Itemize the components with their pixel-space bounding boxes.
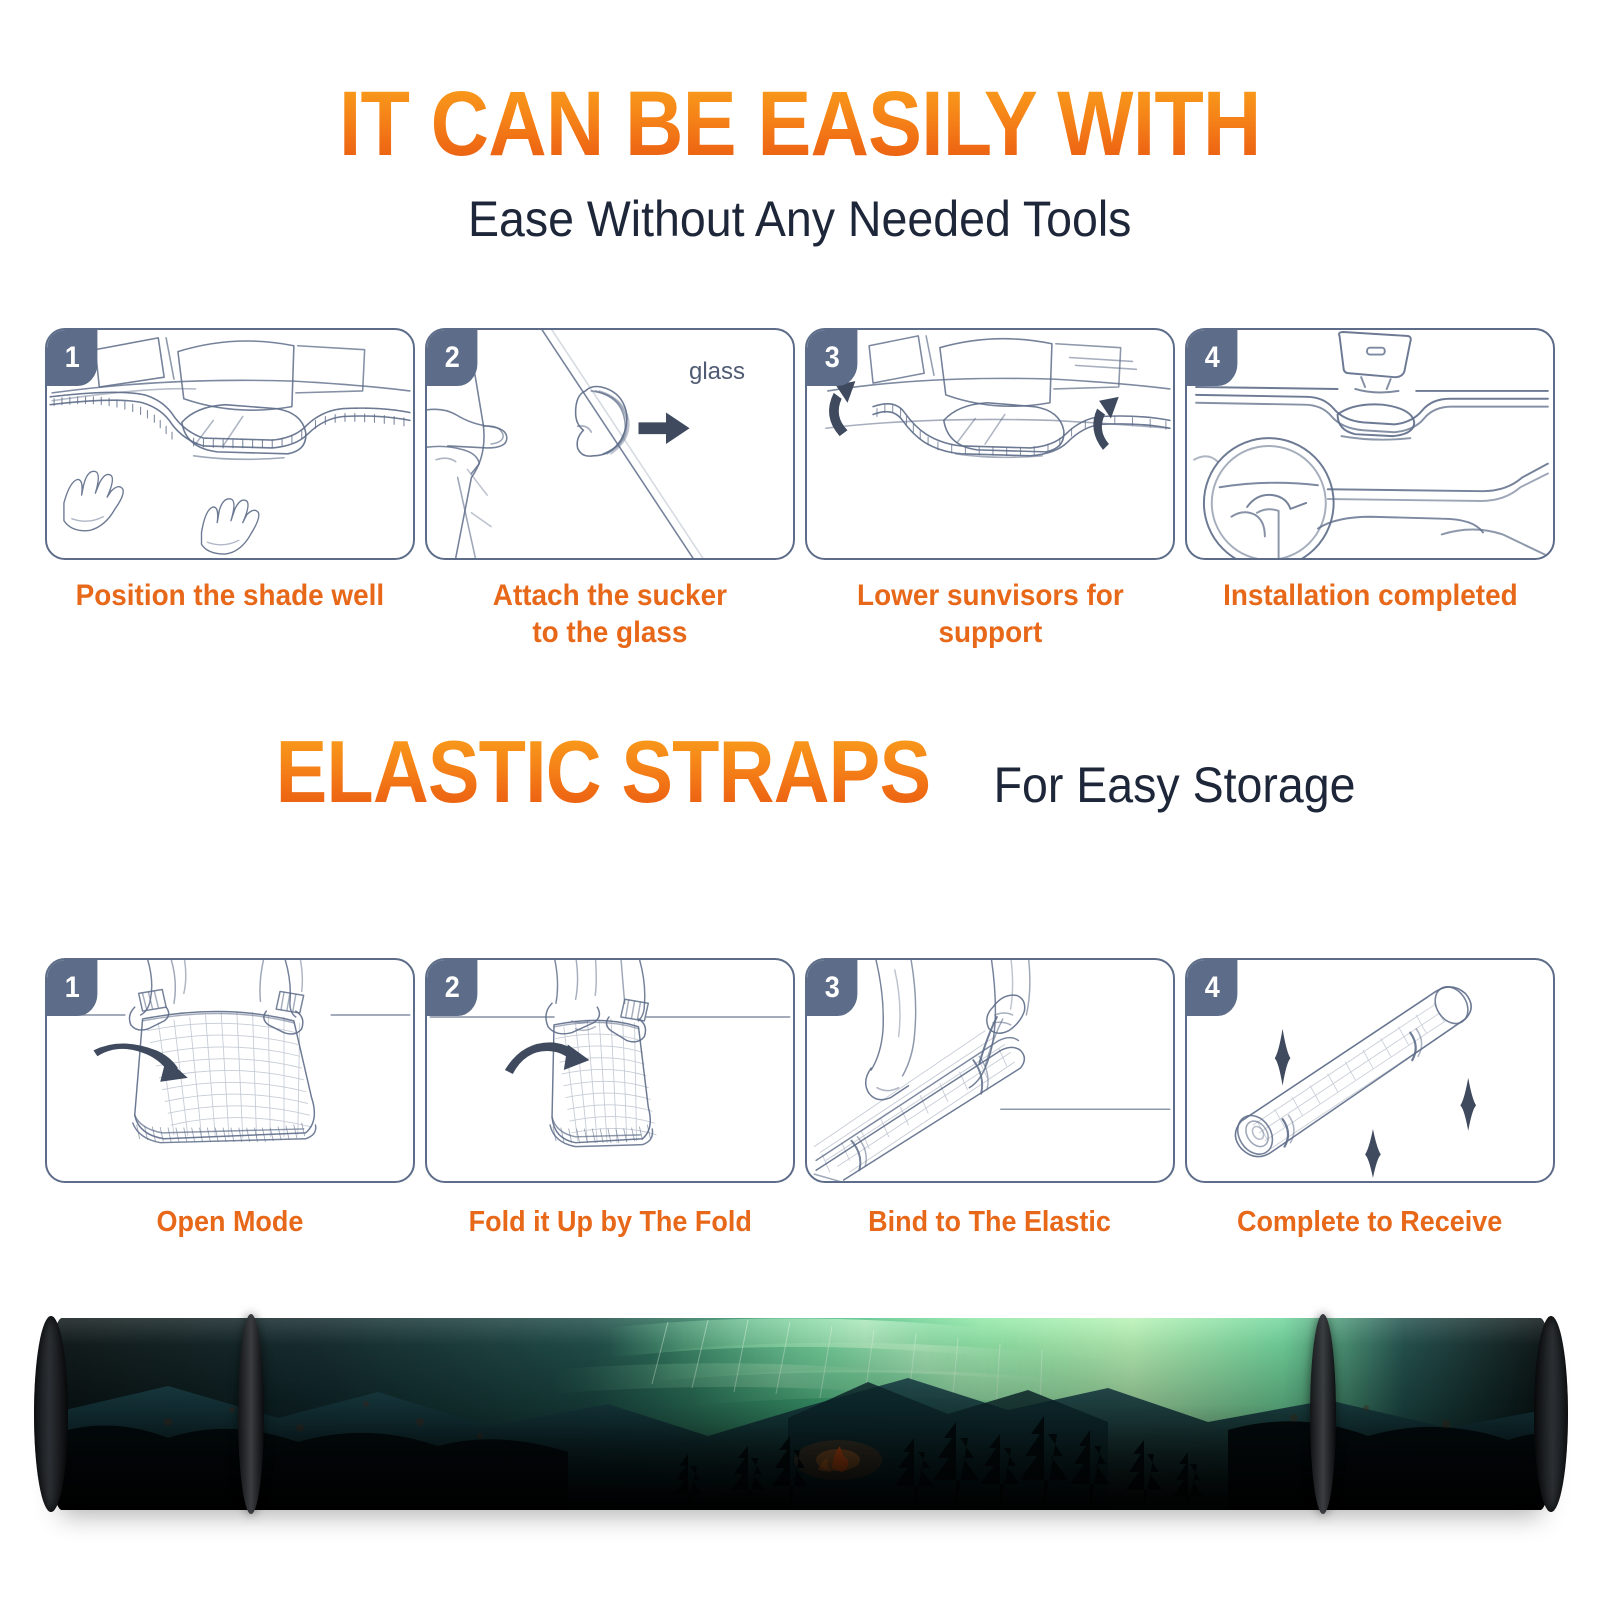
storage-panel-4: 4 <box>1185 958 1555 1183</box>
storage-step-3: 3 <box>805 958 1175 1240</box>
roll-end-cap-right <box>1534 1316 1568 1512</box>
storage-steps-row: 1 <box>45 958 1555 1240</box>
storage-step-2-caption: Fold it Up by The Fold <box>468 1205 751 1240</box>
storage-panel-3: 3 <box>805 958 1175 1183</box>
roll-end-cap-left <box>34 1316 68 1512</box>
car-interior-complete-illustration <box>1187 330 1553 558</box>
elastic-band-right <box>1310 1314 1336 1514</box>
storage-step-2: 2 <box>425 958 795 1240</box>
storage-title: ELASTIC STRAPS <box>276 728 931 816</box>
glass-annotation-label: glass <box>689 358 745 386</box>
install-panel-1: 1 <box>45 328 415 560</box>
installation-steps-row: 1 <box>45 328 1555 651</box>
product-rolled-sunshade <box>48 1318 1554 1510</box>
install-step-4-caption: Installation completed <box>1223 578 1518 615</box>
step-number-badge: 1 <box>47 960 97 1016</box>
step-number-badge: 2 <box>427 330 477 386</box>
step-number-badge: 4 <box>1187 960 1237 1016</box>
install-panel-4: 4 <box>1185 328 1555 560</box>
dashboard-with-hands-illustration <box>47 330 413 558</box>
step-number-badge: 2 <box>427 960 477 1016</box>
storage-step-4: 4 <box>1185 958 1555 1240</box>
install-step-4: 4 <box>1185 328 1555 651</box>
storage-step-3-caption: Bind to The Elastic <box>869 1205 1112 1240</box>
rolled-mat-sparkles-illustration <box>1187 960 1553 1181</box>
storage-panel-2: 2 <box>425 958 795 1183</box>
hero-title: IT CAN BE EASILY WITH <box>339 78 1261 170</box>
roll-with-elastic-illustration <box>807 960 1173 1181</box>
step-number-badge: 1 <box>47 330 97 386</box>
install-panel-3: 3 <box>805 328 1175 560</box>
install-step-1: 1 <box>45 328 415 651</box>
install-step-2-caption: Attach the sucker to the glass <box>493 578 727 651</box>
storage-subtitle: For Easy Storage <box>993 758 1355 813</box>
hands-open-mat-illustration <box>47 960 413 1181</box>
install-step-1-caption: Position the shade well <box>76 578 385 615</box>
install-step-3-caption: Lower sunvisors for support <box>857 578 1124 651</box>
install-step-2: 2 glass <box>425 328 795 651</box>
install-panel-2: 2 glass <box>425 328 795 560</box>
install-step-3: 3 <box>805 328 1175 651</box>
step-number-badge: 4 <box>1187 330 1237 386</box>
sunvisors-arrows-illustration <box>807 330 1173 558</box>
hero-subtitle: Ease Without Any Needed Tools <box>468 192 1131 247</box>
storage-heading-block: ELASTIC STRAPS For Easy Storage <box>0 728 1600 816</box>
storage-step-1-caption: Open Mode <box>157 1205 304 1240</box>
elastic-band-left <box>238 1314 264 1514</box>
hero-heading-block: IT CAN BE EASILY WITH Ease Without Any N… <box>0 78 1600 247</box>
hands-fold-mat-illustration <box>427 960 793 1181</box>
step-number-badge: 3 <box>807 330 857 386</box>
storage-step-4-caption: Complete to Receive <box>1237 1205 1502 1240</box>
step-number-badge: 3 <box>807 960 857 1016</box>
storage-panel-1: 1 <box>45 958 415 1183</box>
storage-step-1: 1 <box>45 958 415 1240</box>
